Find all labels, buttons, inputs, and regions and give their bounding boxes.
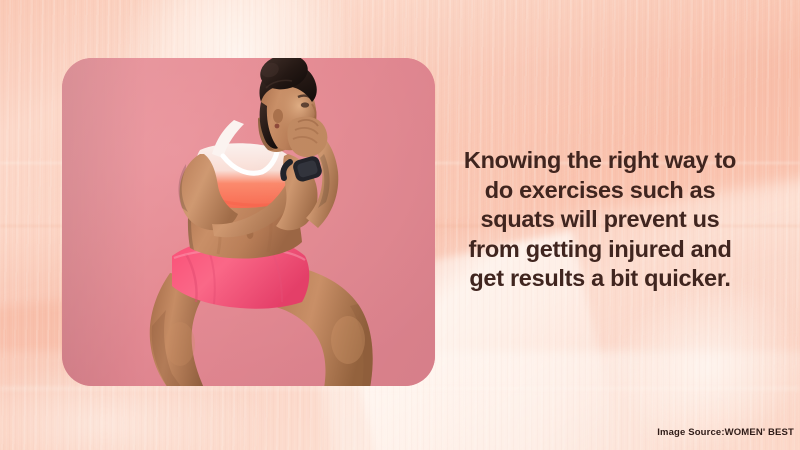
image-source-caption: Image Source:WOMEN' BEST (657, 427, 794, 438)
quote-text-block: Knowing the right way to do exercises su… (452, 146, 748, 294)
poster-canvas: Knowing the right way to do exercises su… (0, 0, 800, 450)
quote-line-2: do exercises such as (452, 176, 748, 206)
quote-line-4: from getting injured and (452, 235, 748, 265)
quote-line-1: Knowing the right way to (452, 146, 748, 176)
fitness-photo-card (62, 58, 435, 386)
quote-line-5: get results a bit quicker. (452, 264, 748, 294)
quote-line-3: squats will prevent us (452, 205, 748, 235)
photo-sheen (62, 58, 435, 386)
